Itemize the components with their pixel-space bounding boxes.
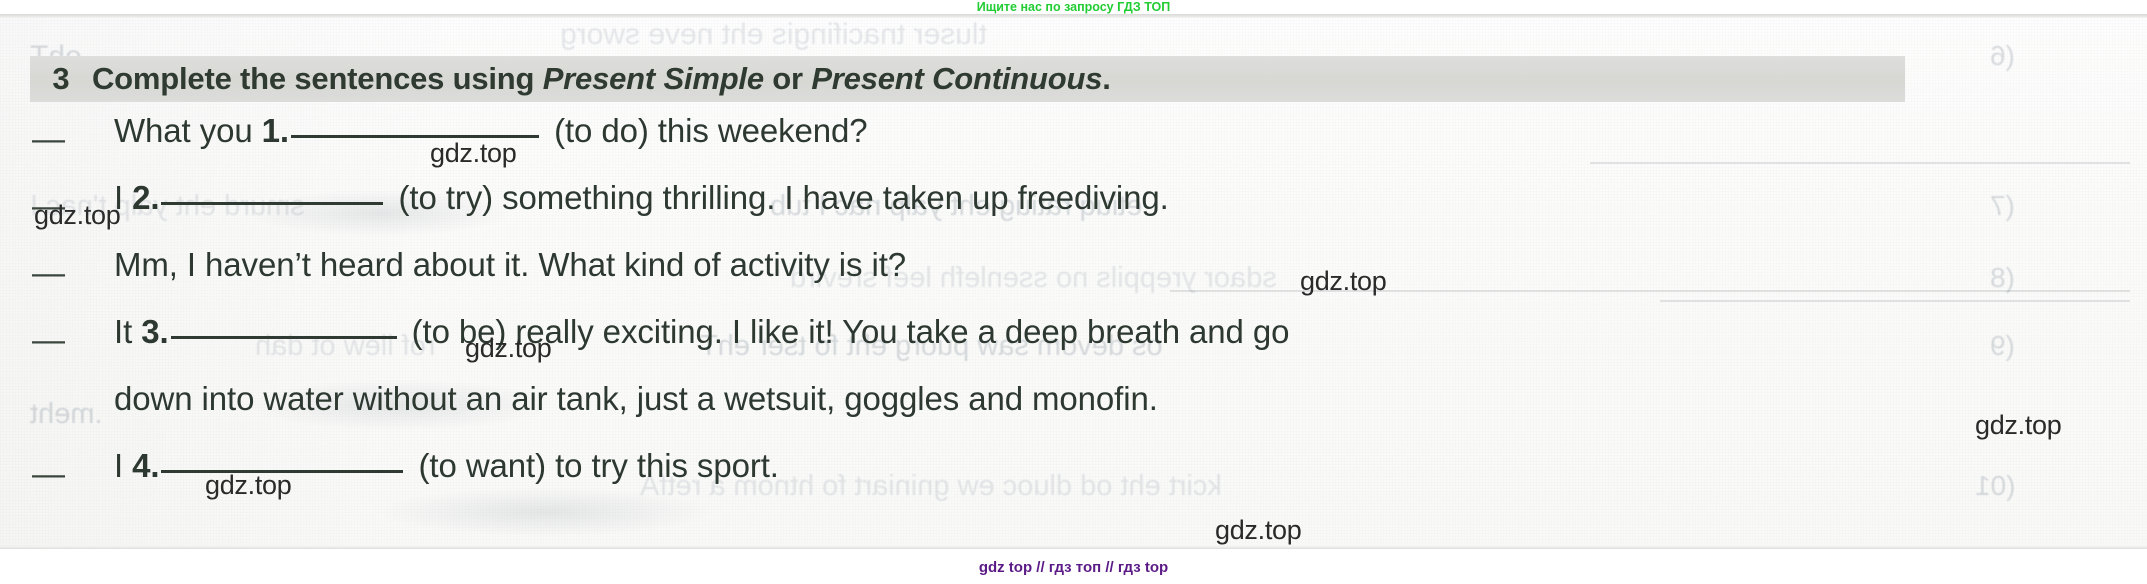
- site-watermark: gdz.top: [430, 138, 516, 169]
- site-watermark: gdz.top: [1300, 266, 1386, 297]
- dialogue-text: It 3. (to be) really exciting. I like it…: [114, 305, 1289, 351]
- gap-number: 2.: [132, 179, 159, 216]
- sentence-suffix: (to try) something thrilling. I have tak…: [389, 179, 1168, 216]
- answer-blank-2[interactable]: [161, 202, 383, 205]
- exercise-number: 3: [30, 61, 92, 97]
- dialogue-text: Mm, I haven’t heard about it. What kind …: [114, 238, 906, 284]
- dialogue-text: I 2. (to try) something thrilling. I hav…: [114, 171, 1169, 217]
- gap-number: 4.: [132, 447, 159, 484]
- title-part-3: .: [1102, 61, 1110, 96]
- bottom-promo-banner: gdz top // гдз топ // гдз top: [0, 555, 2147, 580]
- title-part-1: Complete the sentences using: [92, 61, 543, 96]
- dialogue-line: —What you 1. (to do) this weekend?: [30, 104, 2040, 171]
- site-watermark: gdz.top: [465, 333, 551, 364]
- gap-number: 1.: [262, 112, 289, 149]
- answer-blank-3[interactable]: [171, 336, 397, 339]
- sentence-prefix: What you: [114, 112, 262, 149]
- dialogue-dash: —: [30, 238, 114, 292]
- dialogue-line: —It 3. (to be) really exciting. I like i…: [30, 305, 2040, 372]
- title-emphasis-present-simple: Present Simple: [543, 61, 764, 96]
- sentence-prefix: Mm, I haven’t heard about it. What kind …: [114, 246, 906, 283]
- site-watermark: gdz.top: [1215, 515, 1301, 546]
- gap-number: 3.: [141, 313, 168, 350]
- dialogue-dash: —: [30, 305, 114, 359]
- page-title: Complete the sentences using Present Sim…: [92, 61, 1111, 97]
- sentence-prefix: It: [114, 313, 141, 350]
- dialogue-line: —I 2. (to try) something thrilling. I ha…: [30, 171, 2040, 238]
- exercise-header-bar: 3 Complete the sentences using Present S…: [30, 56, 1905, 102]
- dialogue-line: —down into water without an air tank, ju…: [30, 372, 2040, 439]
- top-promo-banner: Ищите нас по запросу ГДЗ ТОП: [0, 0, 2147, 14]
- sentence-prefix: down into water without an air tank, jus…: [114, 380, 1158, 417]
- page-bottom-edge: [0, 546, 2147, 549]
- dialogue-line: —Mm, I haven’t heard about it. What kind…: [30, 238, 2040, 305]
- dialogue-dash: —: [30, 104, 114, 158]
- title-part-2: or: [764, 61, 811, 96]
- dialogue-dash: —: [30, 439, 114, 493]
- site-watermark: gdz.top: [1975, 410, 2061, 441]
- page-top-edge: [0, 14, 2147, 18]
- dialogue-line: —I 4. (to want) to try this sport.: [30, 439, 2040, 506]
- sentence-prefix: I: [114, 447, 132, 484]
- dialogue-text: down into water without an air tank, jus…: [114, 372, 1158, 418]
- sentence-suffix: (to do) this weekend?: [545, 112, 867, 149]
- site-watermark: gdz.top: [205, 470, 291, 501]
- dialogue-body: —What you 1. (to do) this weekend?—I 2. …: [30, 104, 2040, 506]
- site-watermark: gdz.top: [34, 200, 120, 231]
- sentence-suffix: (to want) to try this sport.: [409, 447, 778, 484]
- title-emphasis-present-continuous: Present Continuous: [811, 61, 1102, 96]
